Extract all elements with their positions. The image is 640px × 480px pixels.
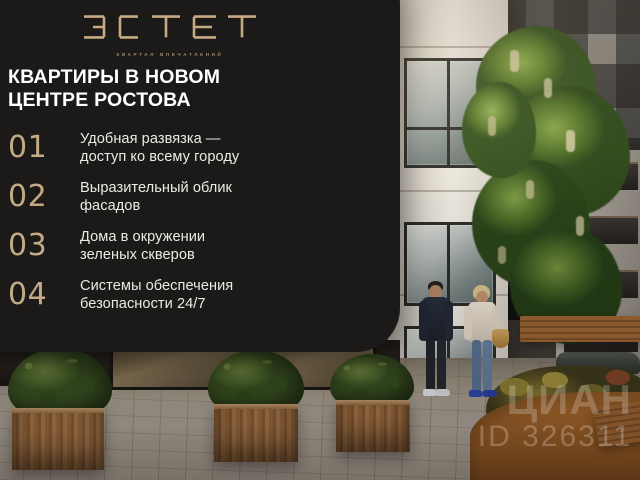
estet-logotype-icon [82,12,258,42]
feature-text-line-1: Системы обеспечения [80,278,233,294]
feature-text-line-1: Удобная развязка — [80,131,221,147]
list-item: 03 Дома в окружении зеленых скверов [8,226,340,266]
brand-tagline: КВАРТАЛ ВПЕЧАТЛЕНИЙ [0,52,340,57]
feature-text: Удобная развязка — доступ ко всему город… [80,130,239,166]
wooden-planter [336,400,410,452]
feature-text-line-2: фасадов [80,198,140,214]
feature-text: Выразительный облик фасадов [80,179,232,215]
content-card: КВАРТАЛ ВПЕЧАТЛЕНИЙ КВАРТИРЫ В НОВОМ ЦЕН… [0,0,400,352]
person-woman [462,285,506,413]
feature-text-line-1: Выразительный облик [80,180,232,196]
list-item: 02 Выразительный облик фасадов [8,177,340,217]
headline-line-1: КВАРТИРЫ В НОВОМ [8,66,220,88]
plaza-bench [520,316,640,342]
feature-text-line-2: безопасности 24/7 [80,296,206,312]
feature-number: 03 [8,231,80,261]
feature-text: Системы обеспечения безопасности 24/7 [80,277,233,313]
headline-line-2: ЦЕНТРЕ РОСТОВА [8,89,338,112]
wooden-planter [12,408,104,470]
wooden-planter [214,404,298,462]
feature-number: 01 [8,133,80,163]
feature-text-line-1: Дома в окружении [80,229,205,245]
plaza-bench [593,401,640,448]
feature-text: Дома в окружении зеленых скверов [80,228,205,264]
feature-list: 01 Удобная развязка — доступ ко всему го… [8,128,340,315]
page-title: КВАРТИРЫ В НОВОМ ЦЕНТРЕ РОСТОВА [8,66,338,111]
list-item: 04 Системы обеспечения безопасности 24/7 [8,275,340,315]
feature-number: 02 [8,182,80,212]
person-man [416,281,456,411]
promo-banner: КВАРТАЛ ВПЕЧАТЛЕНИЙ КВАРТИРЫ В НОВОМ ЦЕН… [0,0,640,480]
brand-logo: КВАРТАЛ ВПЕЧАТЛЕНИЙ [0,12,340,57]
straw-bag [492,329,509,348]
feature-text-line-2: зеленых скверов [80,247,195,263]
list-item: 01 Удобная развязка — доступ ко всему го… [8,128,340,168]
feature-text-line-2: доступ ко всему городу [80,149,239,165]
feature-number: 04 [8,280,80,310]
